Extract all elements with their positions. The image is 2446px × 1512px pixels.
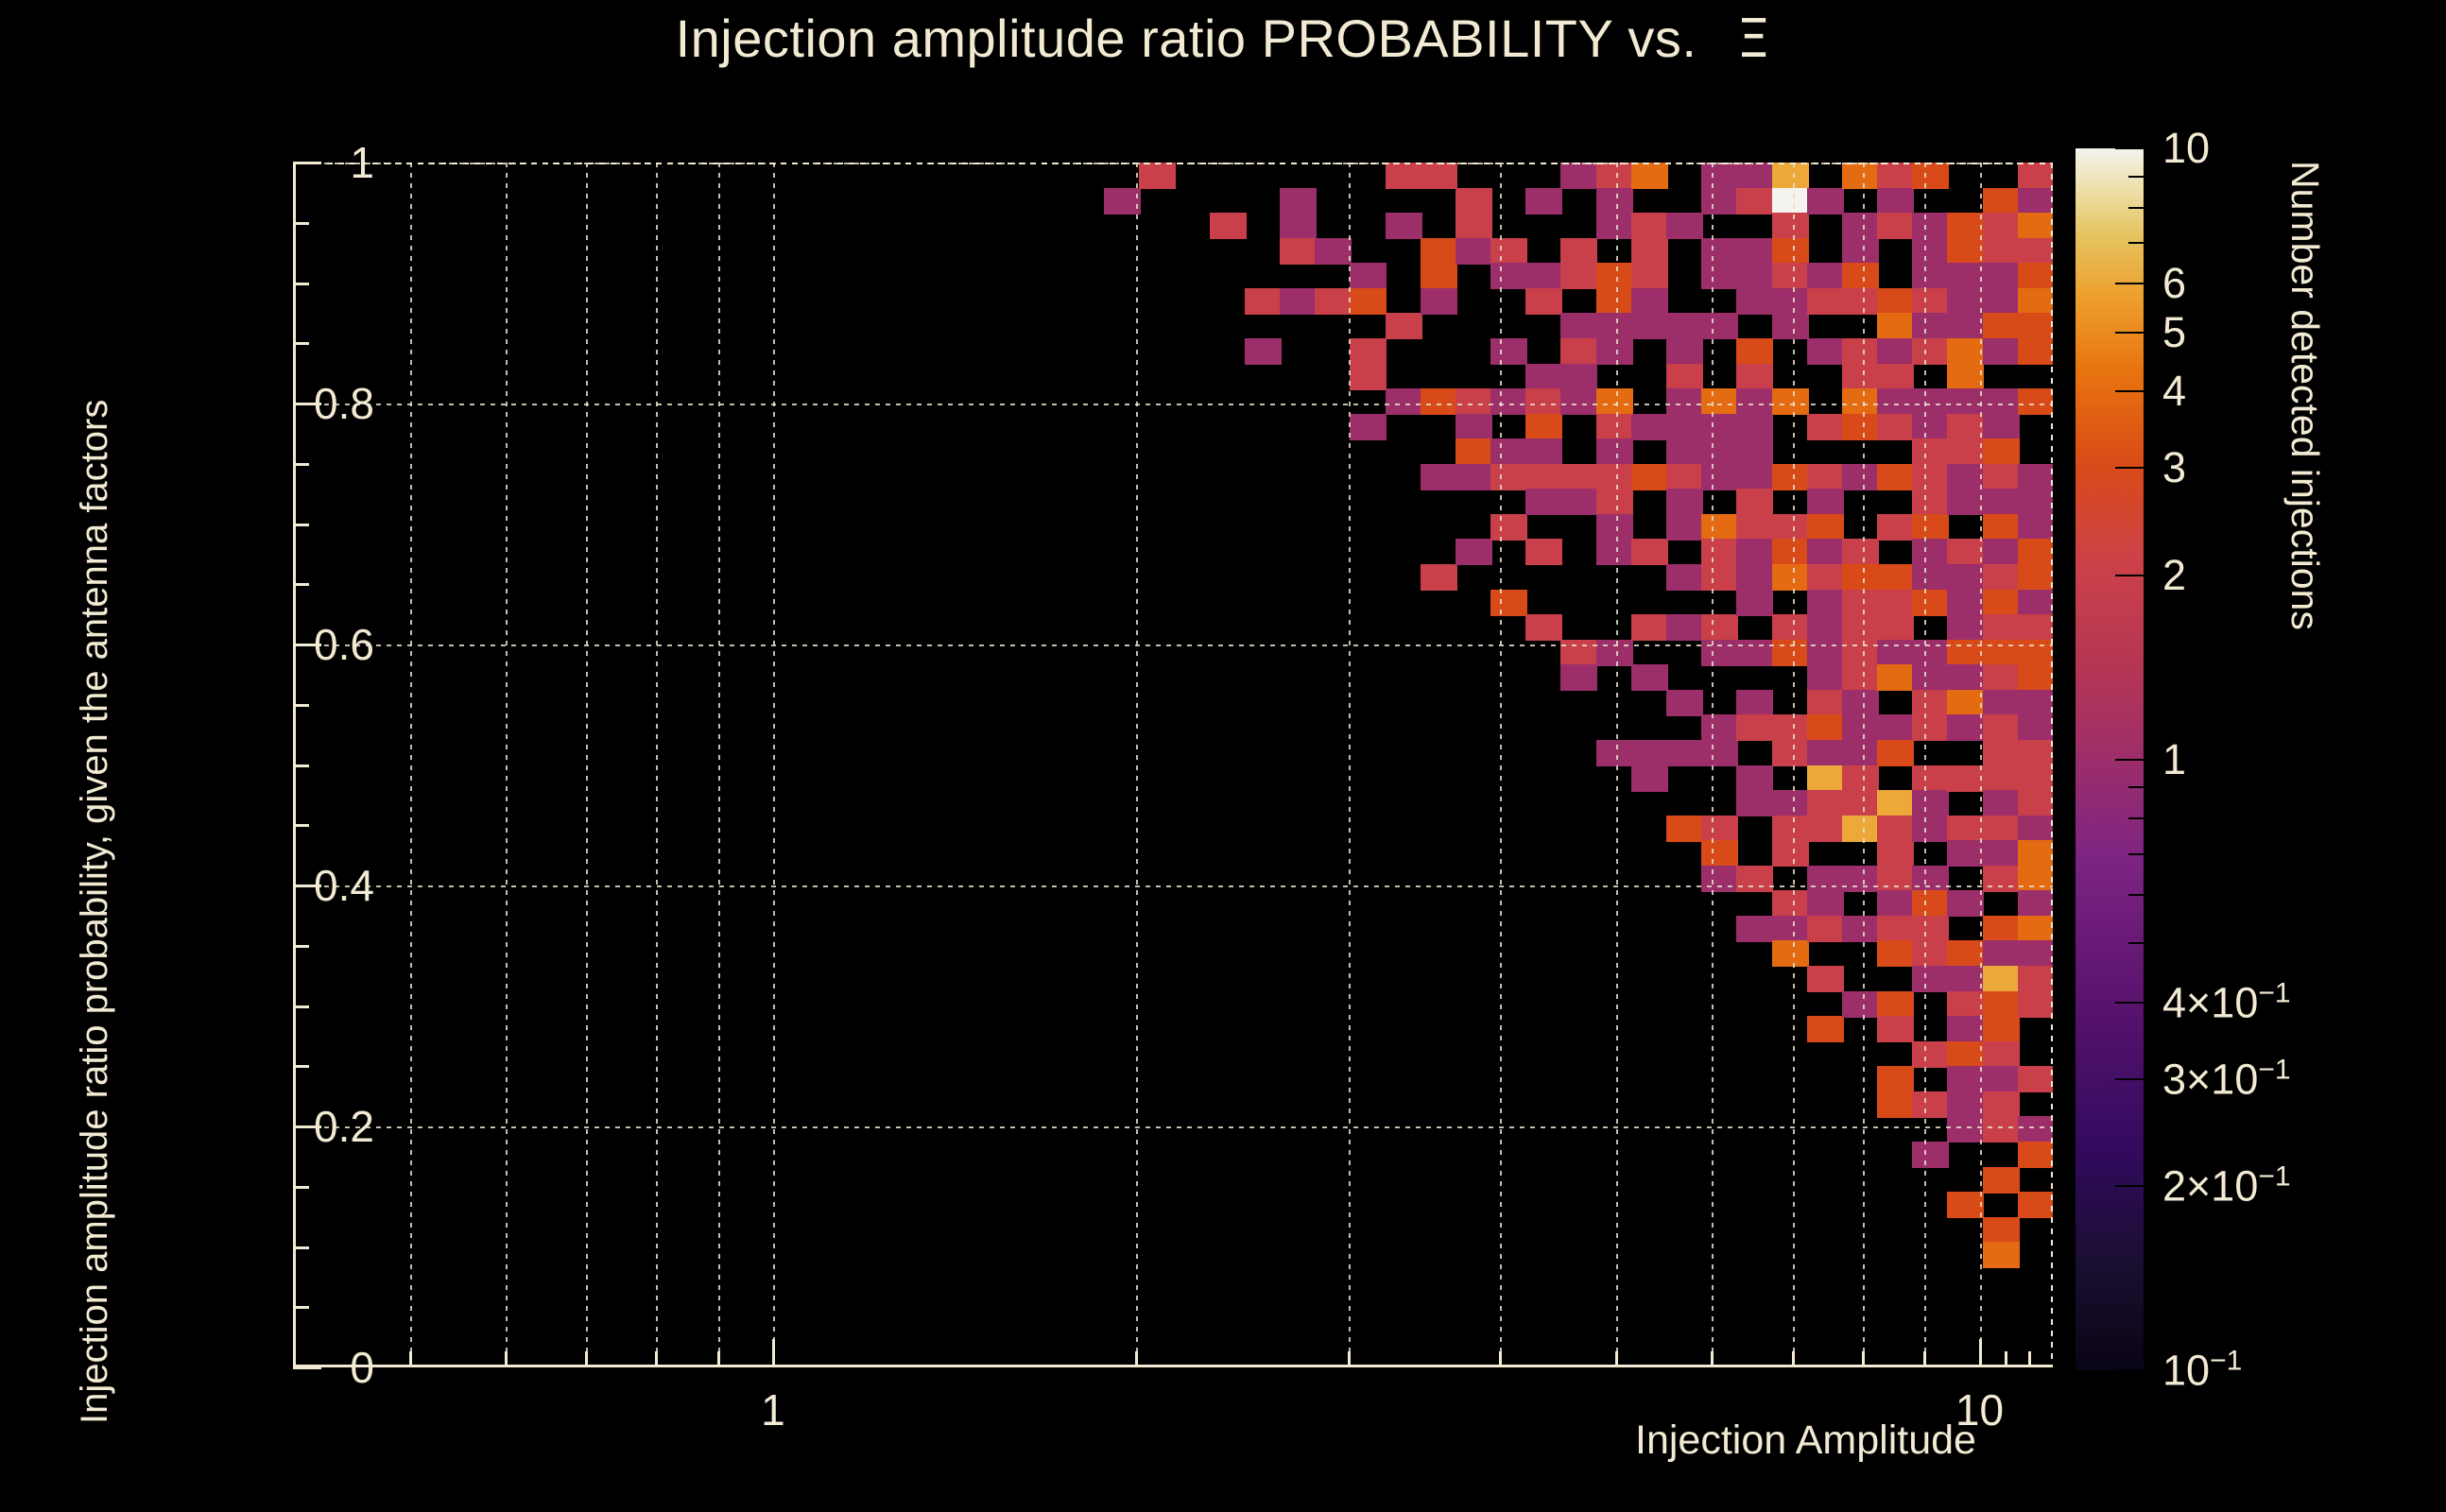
colorbar-tick	[2128, 207, 2144, 209]
colorbar-tick	[2128, 786, 2144, 788]
x-axis-title: Injection Amplitude	[1635, 1417, 1976, 1464]
x-tick-major	[1979, 1339, 1982, 1367]
x-tick-minor	[717, 1351, 720, 1367]
x-tick-minor	[1711, 1351, 1714, 1367]
colorbar-tick-label: 3×10−1	[2162, 1054, 2291, 1104]
heatmap-layer	[296, 163, 2053, 1367]
y-tick-label: 0.8	[314, 378, 374, 429]
y-tick-minor	[293, 1186, 309, 1189]
colorbar-tick	[2115, 467, 2144, 469]
chart-title-text: Injection amplitude ratio PROBABILITY vs…	[676, 9, 1713, 68]
colorbar-tick	[2128, 942, 2144, 944]
y-tick-minor	[293, 342, 309, 345]
chart-title: Injection amplitude ratio PROBABILITY vs…	[0, 8, 2446, 70]
gridline-v	[718, 163, 720, 1367]
y-tick-minor	[293, 583, 309, 586]
colorbar-tick-label: 3	[2162, 443, 2186, 492]
gridline-v	[1500, 163, 1502, 1367]
colorbar-tick	[2115, 390, 2144, 392]
gridline-h	[293, 1126, 2053, 1128]
colorbar-tick	[2115, 1369, 2144, 1371]
gridline-v	[1793, 163, 1795, 1367]
colorbar-tick	[2115, 575, 2144, 576]
axis-line-top	[293, 163, 2053, 164]
gridline-v	[586, 163, 588, 1367]
gridline-v	[410, 163, 412, 1367]
x-tick-minor	[1135, 1351, 1138, 1367]
y-tick-minor	[293, 1065, 309, 1068]
y-tick-minor	[293, 524, 309, 526]
axis-line-right	[2051, 163, 2053, 1367]
gridline-v	[1863, 163, 1865, 1367]
chart-root: Injection amplitude ratio PROBABILITY vs…	[0, 0, 2446, 1512]
x-tick-minor	[1923, 1351, 1926, 1367]
x-tick-minor	[2005, 1351, 2007, 1367]
y-tick-minor	[293, 1246, 309, 1249]
colorbar-tick	[2115, 332, 2144, 334]
x-tick-label: 1	[761, 1384, 785, 1435]
y-axis-title: Injection amplitude ratio probability, g…	[74, 400, 116, 1424]
colorbar-tick-label: 1	[2162, 735, 2186, 784]
colorbar-tick	[2115, 147, 2144, 149]
gridline-v	[773, 163, 775, 1367]
colorbar-tick-label: 10−1	[2162, 1346, 2242, 1396]
colorbar-tick-label: 4×10−1	[2162, 977, 2291, 1027]
colorbar-tick	[2128, 242, 2144, 244]
colorbar-tick	[2128, 817, 2144, 819]
y-tick-minor	[293, 1005, 309, 1008]
x-tick-minor	[2028, 1351, 2031, 1367]
gridline-h	[293, 404, 2053, 405]
x-tick-minor	[655, 1351, 658, 1367]
x-tick-major	[772, 1339, 775, 1367]
gridline-v	[1616, 163, 1618, 1367]
y-tick-minor	[293, 222, 309, 225]
gridline-h	[293, 885, 2053, 887]
colorbar-tick	[2128, 176, 2144, 178]
xi-symbol: Ξ	[1713, 9, 1771, 70]
y-tick-minor	[293, 283, 309, 285]
gridline-v	[1349, 163, 1351, 1367]
y-tick-minor	[293, 765, 309, 767]
colorbar	[2076, 148, 2144, 1370]
y-tick-minor	[293, 945, 309, 948]
y-tick-minor	[293, 704, 309, 707]
colorbar-tick-label: 4	[2162, 367, 2186, 416]
colorbar-tick-label: 2×10−1	[2162, 1161, 2291, 1211]
colorbar-tick-label: 6	[2162, 259, 2186, 308]
colorbar-tick	[2128, 894, 2144, 896]
colorbar-tick	[2115, 1185, 2144, 1187]
gridline-v	[1136, 163, 1138, 1367]
x-tick-minor	[1615, 1351, 1618, 1367]
colorbar-tick-label: 10	[2162, 124, 2210, 173]
y-tick-label: 1	[350, 137, 374, 188]
y-tick-major	[293, 1366, 321, 1369]
x-tick-minor	[1348, 1351, 1351, 1367]
y-tick-major	[293, 162, 321, 164]
y-tick-label: 0	[350, 1342, 374, 1393]
colorbar-tick	[2128, 853, 2144, 855]
y-tick-label: 0.4	[314, 860, 374, 911]
x-tick-minor	[1792, 1351, 1795, 1367]
y-tick-minor	[293, 463, 309, 466]
x-tick-minor	[585, 1351, 588, 1367]
gridline-v	[506, 163, 508, 1367]
y-tick-label: 0.6	[314, 619, 374, 670]
y-tick-minor	[293, 885, 309, 887]
colorbar-tick	[2115, 759, 2144, 761]
x-tick-minor	[1499, 1351, 1502, 1367]
gridline-v	[1980, 163, 1982, 1367]
colorbar-tick-label: 2	[2162, 551, 2186, 600]
x-tick-minor	[409, 1351, 412, 1367]
gridline-v	[1924, 163, 1926, 1367]
colorbar-tick	[2115, 283, 2144, 284]
gridline-v	[656, 163, 658, 1367]
plot-area	[293, 163, 2053, 1367]
axis-line-bottom	[293, 1365, 2053, 1367]
colorbar-tick	[2115, 1078, 2144, 1080]
heatmap-canvas	[296, 163, 2053, 1367]
colorbar-tick	[2115, 1002, 2144, 1004]
y-tick-minor	[293, 824, 309, 827]
y-tick-label: 0.2	[314, 1101, 374, 1152]
y-tick-minor	[293, 1306, 309, 1309]
x-tick-minor	[505, 1351, 508, 1367]
x-tick-minor	[1862, 1351, 1865, 1367]
gridline-v	[1712, 163, 1714, 1367]
colorbar-title: Number detected injections	[2282, 161, 2327, 630]
gridline-h	[293, 644, 2053, 646]
colorbar-tick-label: 5	[2162, 308, 2186, 357]
